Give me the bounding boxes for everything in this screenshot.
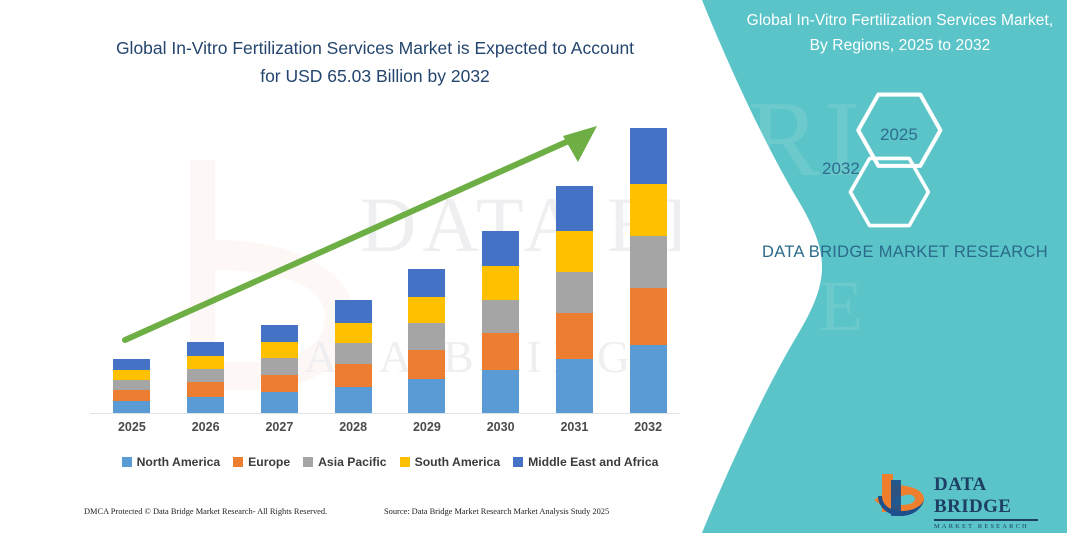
logo-main-text: DATA BRIDGE [934,474,1042,518]
legend-label: Asia Pacific [318,455,386,469]
legend-swatch-icon [233,457,243,467]
x-axis-tick-2031: 2031 [538,420,612,434]
x-axis-tick-2028: 2028 [316,420,390,434]
logo-text: DATA BRIDGE MARKET RESEARCH [934,474,1042,530]
svg-text:RESE: RESE [680,266,872,346]
legend-label: Middle East and Africa [528,455,658,469]
x-axis-labels: 20252026202720282029203020312032 [95,420,685,434]
x-axis-tick-2027: 2027 [243,420,317,434]
x-axis-tick-2030: 2030 [464,420,538,434]
logo-divider [934,519,1038,521]
panel-background-shape: BRI RESE [680,0,1067,533]
x-axis-tick-2026: 2026 [169,420,243,434]
legend-swatch-icon [303,457,313,467]
svg-text:BRI: BRI [680,80,864,199]
data-bridge-logo: DATA BRIDGE MARKET RESEARCH [872,472,1042,520]
legend-swatch-icon [122,457,132,467]
infographic-canvas: DATA BRIDGE DATA BRIDGE MARKET RESEARCH … [0,0,1067,533]
legend-item[interactable]: South America [400,455,501,469]
legend-item[interactable]: Middle East and Africa [513,455,658,469]
legend-label: North America [137,455,221,469]
footer-copyright: DMCA Protected © Data Bridge Market Rese… [84,507,384,516]
legend-swatch-icon [400,457,410,467]
growth-arrow-icon [95,118,685,414]
legend-item[interactable]: North America [122,455,221,469]
page-title: Global In-Vitro Fertilization Services M… [110,34,640,90]
panel-title: Global In-Vitro Fertilization Services M… [740,8,1060,58]
footer-source: Source: Data Bridge Market Research Mark… [384,507,684,516]
legend-item[interactable]: Europe [233,455,290,469]
logo-mark-icon [872,472,930,518]
panel-brand-text: DATA BRIDGE MARKET RESEARCH [750,238,1060,266]
legend-item[interactable]: Asia Pacific [303,455,386,469]
chart-legend: North AmericaEuropeAsia PacificSouth Ame… [95,455,685,469]
legend-label: South America [415,455,501,469]
x-axis-tick-2032: 2032 [611,420,685,434]
x-axis-tick-2025: 2025 [95,420,169,434]
x-axis-line [90,413,690,414]
legend-swatch-icon [513,457,523,467]
legend-label: Europe [248,455,290,469]
right-panel: BRI RESE Global In-Vitro Fertilization S… [680,0,1067,533]
footer: DMCA Protected © Data Bridge Market Rese… [84,507,684,516]
x-axis-tick-2029: 2029 [390,420,464,434]
logo-sub-text: MARKET RESEARCH [934,523,1042,530]
